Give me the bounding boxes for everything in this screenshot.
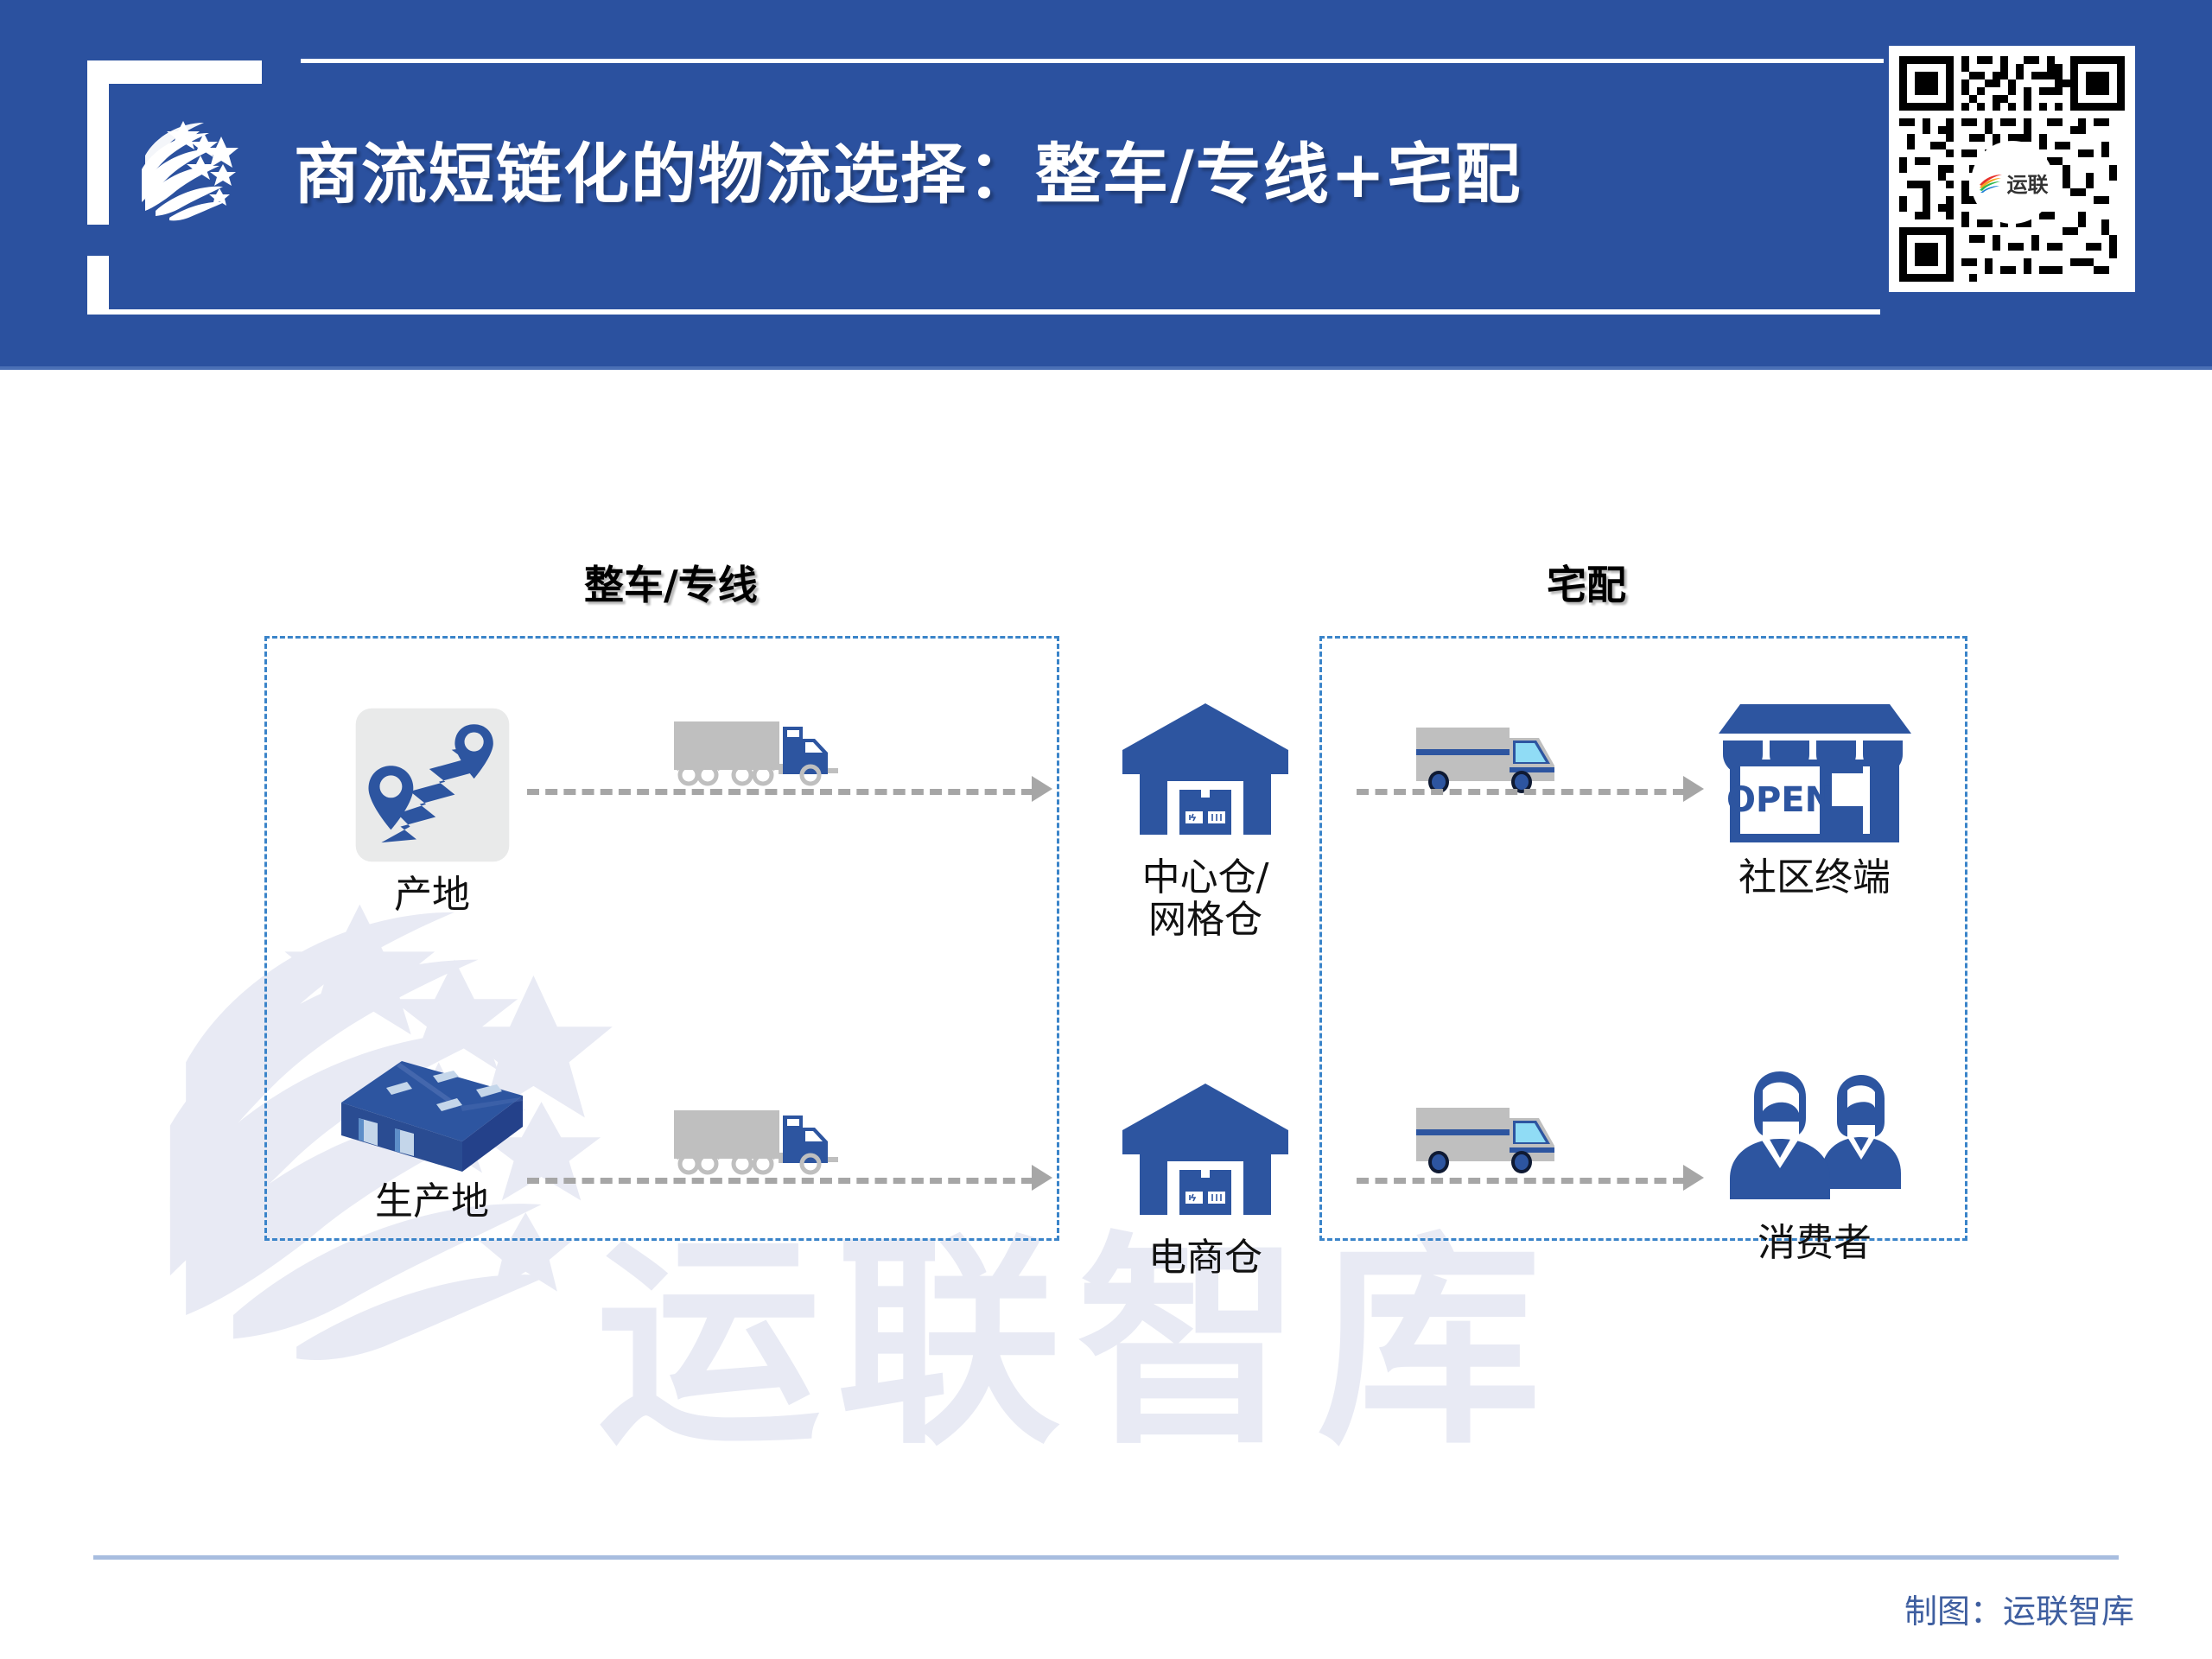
page-title: 商流短链化的物流选择：整车/专线+宅配: [294, 121, 1763, 216]
node-community-terminal-label: 社区终端: [1672, 856, 1957, 899]
qr-code[interactable]: 运联: [1889, 46, 2135, 292]
footer-credit: 制图：运联智库: [1904, 1585, 2134, 1632]
qr-center-label: 运联: [2007, 168, 2049, 198]
node-central-warehouse-label: 中心仓/ 网格仓: [1080, 856, 1331, 942]
header-bracket-bottom-line: [87, 309, 1880, 315]
qr-code-canvas: 运联: [1899, 56, 2125, 282]
header-top-rule: [301, 59, 1884, 63]
semi-truck-icon: [670, 1098, 868, 1202]
diagram-area: 整车/专线 宅配 产地: [0, 368, 2212, 1659]
header-bracket-bottom-left: [87, 256, 109, 315]
map-route-pins-icon: [353, 705, 512, 865]
node-consumer[interactable]: 消费者: [1672, 1068, 1957, 1264]
consumers-people-icon: [1718, 1068, 1912, 1213]
node-production-site[interactable]: 生产地: [294, 1042, 570, 1223]
node-central-warehouse[interactable]: 中心仓/ 网格仓: [1080, 688, 1331, 942]
node-origin[interactable]: 产地: [320, 705, 544, 916]
flow-arrow-central-to-community: [1357, 789, 1685, 795]
footer-divider: [93, 1555, 2119, 1560]
storefront-open-icon: OPEN: [1718, 692, 1912, 848]
warehouse-icon: [1119, 688, 1292, 848]
transport-truck-top: [652, 709, 886, 813]
node-origin-label: 产地: [320, 874, 544, 916]
delivery-van-icon: [1413, 1094, 1577, 1189]
svg-text:OPEN: OPEN: [1726, 780, 1833, 820]
slide-root: 商流短链化的物流选择：整车/专线+宅配: [0, 0, 2212, 1659]
transport-truck-bottom: [652, 1098, 886, 1202]
node-ecommerce-warehouse-label: 电商仓: [1080, 1236, 1331, 1279]
factory-building-icon: [333, 1042, 531, 1172]
section-label-home-delivery: 宅配: [1547, 554, 1626, 611]
qr-center-logo: 运联: [1971, 141, 2054, 224]
yunlian-globe-logo-icon: [130, 102, 242, 223]
node-ecommerce-warehouse[interactable]: 电商仓: [1080, 1068, 1331, 1279]
node-consumer-label: 消费者: [1672, 1222, 1957, 1264]
flow-arrow-production-to-ecommerce: [527, 1178, 1033, 1184]
flow-arrow-production-to-ecommerce-head: [1032, 1165, 1052, 1191]
node-community-terminal[interactable]: OPEN 社区终端: [1672, 692, 1957, 899]
header-bracket-top: [87, 60, 262, 84]
transport-van-bottom: [1395, 1094, 1594, 1189]
warehouse-icon: [1119, 1068, 1292, 1228]
semi-truck-icon: [670, 709, 868, 813]
flow-arrow-origin-to-central: [527, 789, 1033, 795]
yunlian-color-swoosh-icon: [1976, 168, 2005, 197]
flow-arrow-origin-to-central-head: [1032, 776, 1052, 802]
flow-arrow-ecommerce-to-consumer: [1357, 1178, 1685, 1184]
node-production-site-label: 生产地: [294, 1180, 570, 1223]
header-bracket-left: [87, 60, 109, 225]
section-label-ftl: 整车/专线: [584, 554, 758, 611]
